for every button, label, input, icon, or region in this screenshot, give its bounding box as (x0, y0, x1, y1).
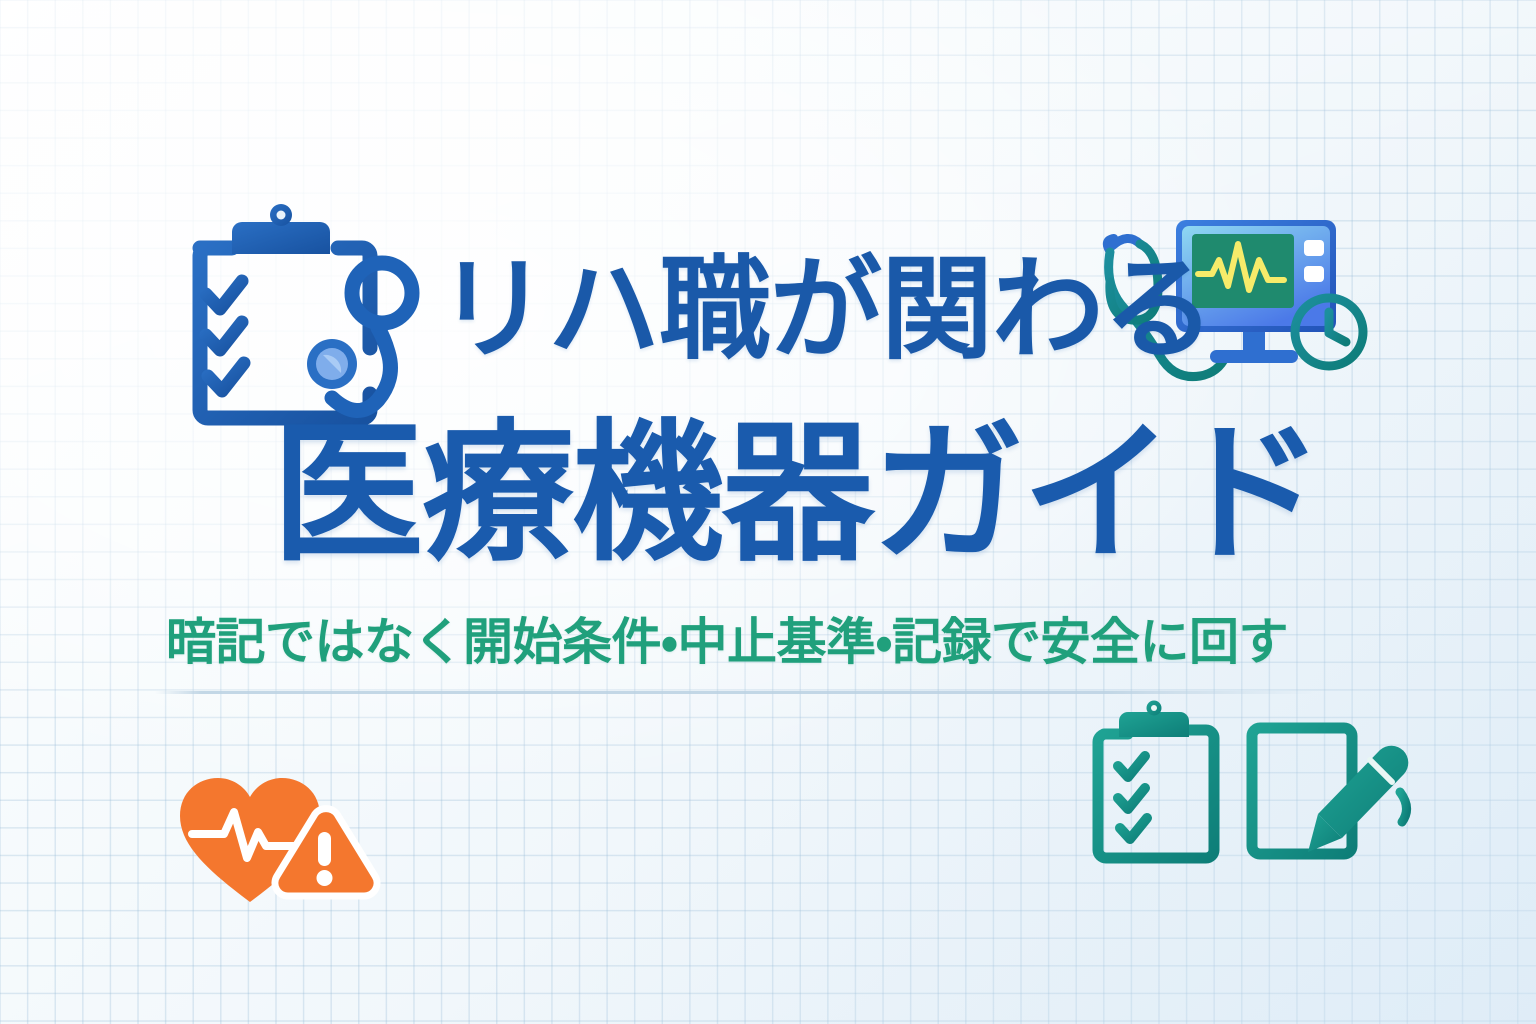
poster-canvas: リハ職が関わる 医療機器ガイド 暗記ではなく開始条件・中止基準・記録で安全に回す (0, 0, 1536, 1024)
poster-title-line-2: 医療機器ガイド (272, 418, 1322, 570)
poster-title-line-1: リハ職が関わる (437, 254, 1214, 366)
poster-subtitle: 暗記ではなく開始条件・中止基準・記録で安全に回す (166, 617, 1288, 667)
subtitle-divider (155, 691, 1315, 694)
heart-pulse-alert-icon (170, 766, 380, 912)
clipboard-stethoscope-icon (160, 198, 448, 444)
clipboard-notepad-pen-icon (1080, 698, 1424, 894)
